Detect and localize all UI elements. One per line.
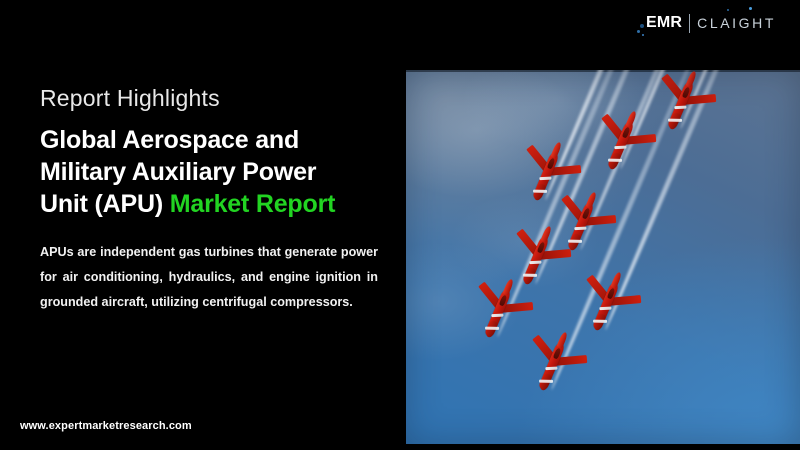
- content-column: Report Highlights Global Aerospace and M…: [0, 62, 406, 450]
- logo-emr-text: EMR: [646, 15, 682, 31]
- logo-spark-small-icon: [727, 9, 729, 11]
- footer-website-url[interactable]: www.expertmarketresearch.com: [20, 420, 192, 432]
- logo-spark-icon: [749, 7, 752, 10]
- logo-dots-icon: [637, 22, 651, 36]
- jet-aircraft: [566, 268, 650, 352]
- brand-logo[interactable]: EMR CLAIGHT: [646, 12, 776, 34]
- eyebrow-label: Report Highlights: [40, 85, 220, 112]
- logo-claight-text: CLAIGHT: [697, 16, 776, 30]
- page-title-highlight: Market Report: [170, 190, 336, 218]
- header-bar: EMR CLAIGHT: [0, 0, 800, 62]
- body-paragraph: APUs are independent gas turbines that g…: [40, 240, 378, 316]
- hero-photo: [406, 70, 800, 444]
- logo-divider: [689, 14, 690, 33]
- page-title: Global Aerospace and Military Auxiliary …: [40, 124, 370, 220]
- report-highlight-slide: EMR CLAIGHT Report Highlights Global Aer…: [0, 0, 800, 450]
